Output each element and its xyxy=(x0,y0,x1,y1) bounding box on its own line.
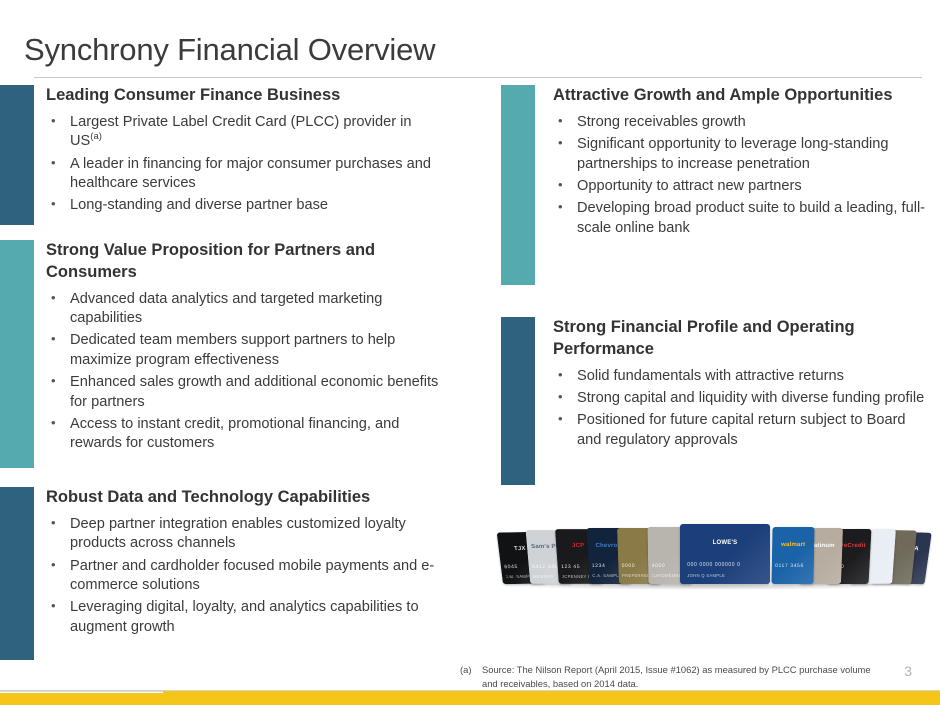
list-item: Opportunity to attract new partners xyxy=(553,177,931,196)
slide: Synchrony Financial Overview Leading Con… xyxy=(0,0,940,705)
accent-bar-teal xyxy=(0,240,34,468)
list-item: A leader in financing for major consumer… xyxy=(46,155,446,194)
card-number: 6045 xyxy=(504,565,518,571)
list-item: Developing broad product suite to build … xyxy=(553,199,931,238)
footnote-mark: (a) xyxy=(460,663,471,677)
card-holder-name: PREFERRED xyxy=(622,573,651,578)
section-heading: Robust Data and Technology Capabilities xyxy=(46,487,446,509)
title-divider xyxy=(34,77,922,78)
section-heading: Strong Financial Profile and Operating P… xyxy=(553,317,931,361)
list-item: Positioned for future capital return sub… xyxy=(553,411,931,450)
card-fan-shadow xyxy=(514,583,898,590)
bullet-list: Largest Private Label Credit Card (PLCC)… xyxy=(46,113,446,216)
section-heading: Attractive Growth and Ample Opportunitie… xyxy=(553,85,931,107)
list-item: Significant opportunity to leverage long… xyxy=(553,135,931,174)
footer-bar-right xyxy=(163,691,940,705)
credit-card: LOWE'S000 0000 000000 0JOHN Q SAMPLE xyxy=(680,524,770,584)
card-number: 0117 3456 xyxy=(775,563,804,569)
list-item: Dedicated team members support partners … xyxy=(46,331,446,370)
section-strong-value-proposition: Strong Value Proposition for Partners an… xyxy=(0,240,470,468)
list-item: Enhanced sales growth and additional eco… xyxy=(46,373,446,412)
bullet-list: Advanced data analytics and targeted mar… xyxy=(46,290,446,454)
card-brand-logo: walmart xyxy=(781,542,805,548)
credit-card-fan-image: TJX6045J.M. SAMPLESam's Plus5412 3456MEM… xyxy=(500,518,912,590)
list-item: Long-standing and diverse partner base xyxy=(46,196,446,215)
section-robust-data-and-technology-capabilities: Robust Data and Technology Capabilities … xyxy=(0,487,470,660)
list-item: Largest Private Label Credit Card (PLCC)… xyxy=(46,113,446,152)
page-title: Synchrony Financial Overview xyxy=(24,32,435,68)
page-number: 3 xyxy=(904,663,912,679)
section-strong-financial-profile-and-operating-performance: Strong Financial Profile and Operating P… xyxy=(501,317,931,485)
card-holder-name: MEMBER xyxy=(533,574,554,579)
footnote: (a) Source: The Nilson Report (April 201… xyxy=(460,663,880,690)
footnote-text: Source: The Nilson Report (April 2015, I… xyxy=(460,663,880,690)
accent-bar-dark xyxy=(0,487,34,660)
section-leading-consumer-finance-business: Leading Consumer Finance Business Larges… xyxy=(0,85,470,225)
accent-bar-dark xyxy=(501,317,535,485)
list-item: Access to instant credit, promotional fi… xyxy=(46,415,446,454)
bullet-list: Solid fundamentals with attractive retur… xyxy=(553,367,931,451)
list-item: Strong capital and liquidity with divers… xyxy=(553,389,931,408)
accent-bar-teal xyxy=(501,85,535,285)
list-item: Partner and cardholder focused mobile pa… xyxy=(46,557,446,596)
list-item: Leveraging digital, loyalty, and analyti… xyxy=(46,598,446,637)
footer-bar-left xyxy=(0,693,163,705)
card-number: 123 45 xyxy=(561,564,580,570)
card-number: 0000 xyxy=(622,563,636,569)
card-number: 4000 xyxy=(652,563,666,569)
footnote-marker: (a) xyxy=(90,131,102,142)
card-brand-logo: TJX xyxy=(514,546,526,552)
card-brand-logo: LOWE'S xyxy=(713,540,738,546)
card-number: 000 0000 000000 0 xyxy=(687,562,740,568)
section-heading: Strong Value Proposition for Partners an… xyxy=(46,240,446,284)
list-item: Advanced data analytics and targeted mar… xyxy=(46,290,446,329)
bullet-list: Strong receivables growth Significant op… xyxy=(553,113,931,238)
list-item: Deep partner integration enables customi… xyxy=(46,515,446,554)
bullet-text: Largest Private Label Credit Card (PLCC)… xyxy=(70,114,411,149)
list-item: Solid fundamentals with attractive retur… xyxy=(553,367,931,386)
section-attractive-growth-and-ample-opportunities: Attractive Growth and Ample Opportunitie… xyxy=(501,85,931,285)
bullet-list: Deep partner integration enables customi… xyxy=(46,515,446,637)
credit-card: walmart0117 3456 xyxy=(771,527,814,584)
section-heading: Leading Consumer Finance Business xyxy=(46,85,446,107)
card-brand-logo: JCP xyxy=(572,543,585,549)
card-holder-name: JOHN Q SAMPLE xyxy=(687,573,725,578)
list-item: Strong receivables growth xyxy=(553,113,931,132)
accent-bar-dark xyxy=(0,85,34,225)
card-number: 1234 xyxy=(592,563,606,569)
